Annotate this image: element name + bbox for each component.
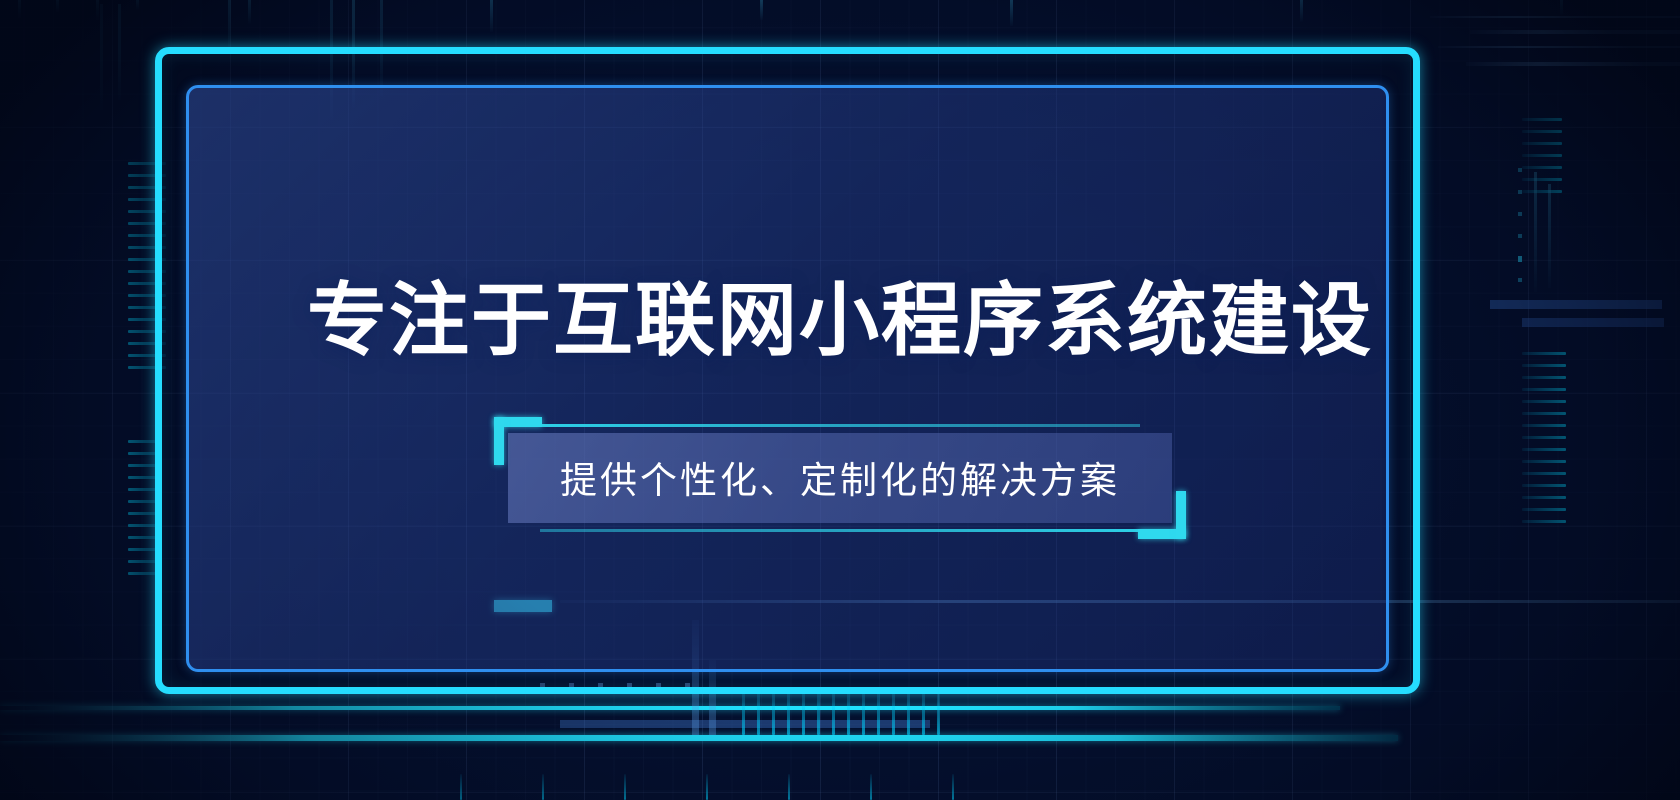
subtitle-rule-bottom bbox=[540, 529, 1140, 532]
page-title: 专注于互联网小程序系统建设 bbox=[307, 277, 1373, 365]
banner-stage: 专注于互联网小程序系统建设 提供个性化、定制化的解决方案 bbox=[0, 0, 1680, 800]
subtitle-rule-top bbox=[540, 424, 1140, 427]
subtitle-container: 提供个性化、定制化的解决方案 bbox=[508, 433, 1172, 523]
corner-bracket-top-left-icon bbox=[494, 417, 542, 465]
corner-bracket-bottom-right-icon bbox=[1138, 491, 1186, 539]
subtitle-text: 提供个性化、定制化的解决方案 bbox=[560, 460, 1120, 501]
banner-content: 专注于互联网小程序系统建设 提供个性化、定制化的解决方案 bbox=[0, 0, 1680, 800]
subtitle-box: 提供个性化、定制化的解决方案 bbox=[508, 433, 1172, 523]
